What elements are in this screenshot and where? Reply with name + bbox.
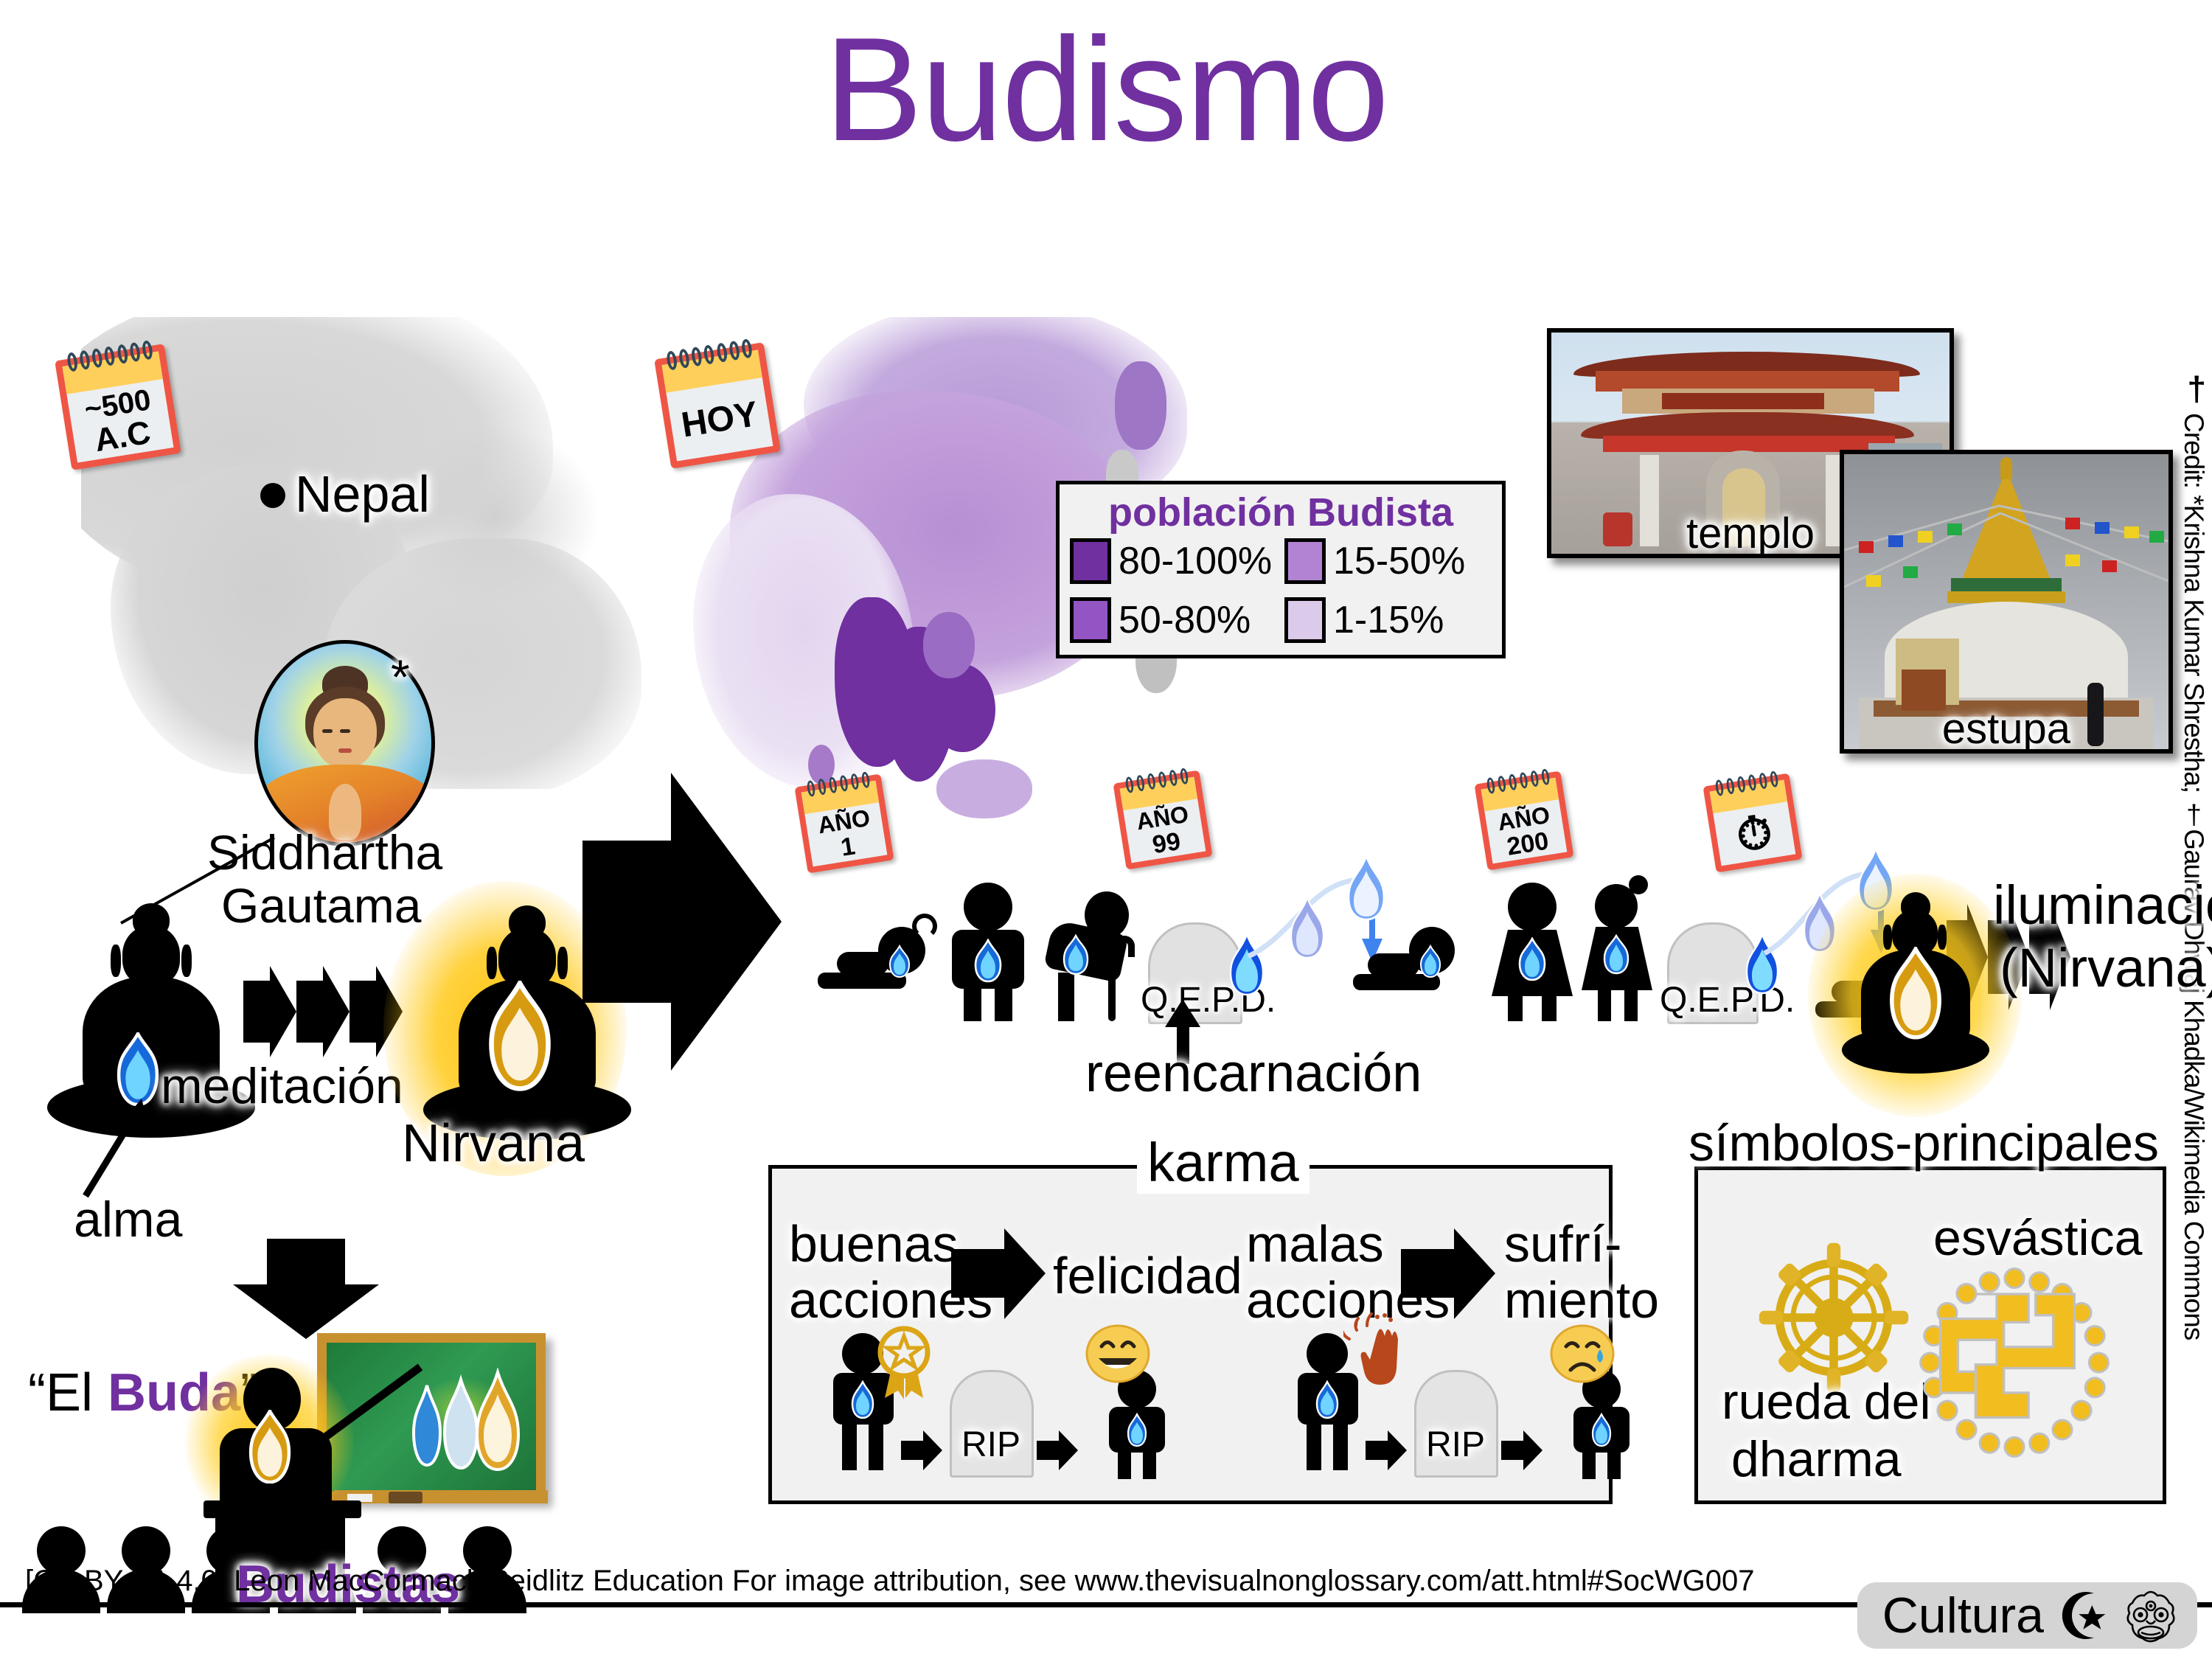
nepal-dot xyxy=(260,483,285,508)
reincarnation-label: reencarnación xyxy=(1085,1043,1422,1104)
page-title: Budismo xyxy=(0,16,2212,164)
award-ribbon-icon xyxy=(876,1324,932,1401)
quote-open: “El xyxy=(28,1363,108,1422)
legend-swatch xyxy=(1070,597,1111,643)
grave-text: RIP xyxy=(1426,1425,1485,1465)
buddhist-swastika-icon xyxy=(1919,1267,2110,1458)
happy-face-icon xyxy=(1085,1324,1150,1383)
karma-title: karma xyxy=(1137,1131,1310,1194)
calendar-line-2: A.C xyxy=(92,416,153,458)
wheel-label-1: rueda del xyxy=(1722,1373,1931,1430)
calendar-line-2: 99 xyxy=(1151,829,1183,859)
karma-good-sequence: RIP xyxy=(833,1327,1217,1489)
pointer-stick xyxy=(304,1361,437,1457)
nepal-label: Nepal xyxy=(295,465,430,524)
calendar-line-2: 200 xyxy=(1505,828,1551,860)
meditation-label: meditación xyxy=(161,1057,403,1115)
calendar-hoy: HOY xyxy=(654,342,781,469)
calendar-ano-1: AÑO 1 xyxy=(794,773,894,873)
population-legend: población Budista 80-100% 15-50% 50-80% … xyxy=(1056,481,1506,658)
legend-item-2: 50-80% xyxy=(1070,597,1277,643)
photo-caption: estupa xyxy=(1942,704,2070,754)
nirvana-flame-gold xyxy=(479,981,560,1091)
legend-label: 80-100% xyxy=(1119,542,1272,580)
portrait-footnote: * xyxy=(391,649,410,705)
legend-label: 50-80% xyxy=(1119,601,1251,639)
dagger-footnote: † xyxy=(2187,369,2206,408)
enlightenment-label-2: (Nirvana) xyxy=(2000,936,2212,999)
badge-label: Cultura xyxy=(1882,1587,2044,1644)
lion-dance-mask-icon xyxy=(2124,1587,2178,1644)
down-arrow xyxy=(221,1239,391,1346)
legend-item-1: 15-50% xyxy=(1284,538,1492,584)
grave-text: RIP xyxy=(961,1425,1020,1465)
karma-bad-result-label: sufrí- miento xyxy=(1504,1217,1659,1328)
legend-item-3: 1-15% xyxy=(1284,597,1492,643)
legend-swatch xyxy=(1284,538,1326,584)
life-cycle-row: Q.E.P.D. Q.E.P.D. xyxy=(807,881,1935,1021)
soul-label: alma xyxy=(74,1191,182,1248)
legend-item-0: 80-100% xyxy=(1070,538,1277,584)
crescent-star-icon xyxy=(2057,1587,2110,1644)
calendar-500bc: ~500 A.C xyxy=(55,344,181,470)
soul-arrow xyxy=(74,1091,162,1202)
photo-caption: templo xyxy=(1686,509,1815,558)
calendar-ano-99: AÑO 99 xyxy=(1113,770,1212,869)
wheel-label-2: dharma xyxy=(1731,1430,1902,1488)
karma-good-result-label: felicidad xyxy=(1053,1246,1242,1305)
calendar-ano-200: AÑO 200 xyxy=(1474,771,1573,870)
symbols-title: símbolos-principales xyxy=(1688,1113,2159,1172)
hitting-hand-icon xyxy=(1343,1312,1402,1401)
legend-swatch xyxy=(1070,538,1111,584)
big-right-arrow xyxy=(582,767,796,1080)
legend-label: 1-15% xyxy=(1333,601,1444,639)
legend-label: 15-50% xyxy=(1333,542,1465,580)
teacher-flame-gold xyxy=(242,1410,298,1484)
karma-arrow-bad xyxy=(1401,1224,1497,1327)
legend-title: población Budista xyxy=(1070,492,1492,534)
calendar-line-1: HOY xyxy=(679,396,761,445)
karma-arrow-good xyxy=(951,1224,1047,1327)
category-badge: Cultura xyxy=(1857,1582,2197,1649)
swastika-label: esvástica xyxy=(1933,1209,2142,1267)
legend-swatch xyxy=(1284,597,1326,643)
karma-bad-sequence: RIP xyxy=(1298,1327,1681,1489)
photo-estupa: estupa xyxy=(1840,450,2173,754)
enlightenment-label-1: iluminación xyxy=(1993,874,2212,936)
footer-attribution: [CC BY-SA 4.0] Leon MacCormack/Seidlitz … xyxy=(25,1565,1755,1598)
nirvana-label: Nirvana xyxy=(402,1113,585,1174)
calendar-line-2: 1 xyxy=(839,833,857,861)
sad-face-icon xyxy=(1550,1324,1615,1383)
enlightenment-flame-gold xyxy=(1882,947,1950,1040)
